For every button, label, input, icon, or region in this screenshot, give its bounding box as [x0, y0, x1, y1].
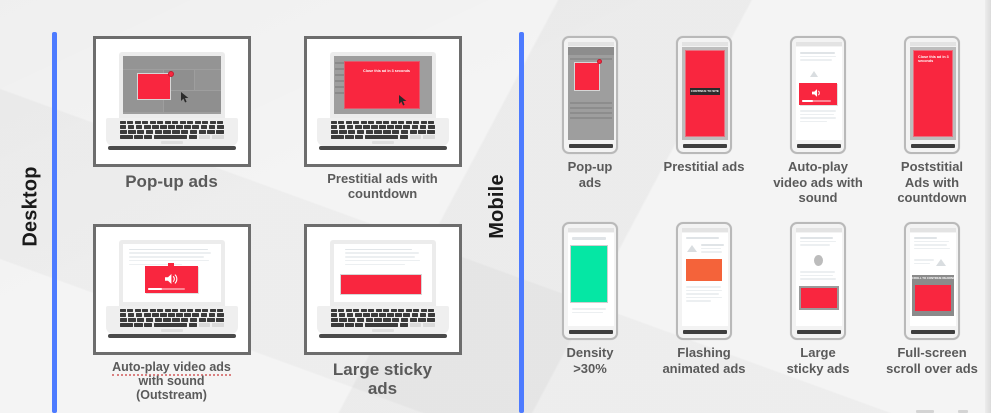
mobile-caption-poststitial-ads: Poststitial Ads with countdown	[897, 159, 966, 206]
phone-status-bar	[796, 42, 842, 46]
article-text-lines-top	[800, 237, 838, 248]
scroll-to-continue-banner: SCROLL TO CONTINUE READING	[912, 275, 954, 282]
article-text-lines-top	[914, 237, 952, 251]
laptop-foot	[319, 334, 447, 338]
desktop-grid: Pop-up ads	[72, 36, 482, 408]
article-text-lines-bottom	[686, 286, 724, 304]
popup-ad-overlay[interactable]	[137, 73, 171, 100]
phone-home-bar	[569, 144, 613, 148]
desktop-label-text: Desktop	[20, 166, 43, 246]
laptop-card-frame: Close this ad in 3 seconds	[304, 36, 462, 167]
flashing-animated-ad-overlay[interactable]	[686, 259, 722, 281]
article-text-lines-bottom	[800, 110, 838, 124]
mobile-caption-scroll-over-ads: Full-screen scroll over ads	[886, 345, 978, 376]
laptop-base	[317, 306, 449, 334]
video-nub	[168, 263, 174, 266]
laptop-trackpad	[372, 329, 394, 332]
laptop-trackpad	[161, 141, 183, 144]
video-ad-player[interactable]	[145, 266, 198, 293]
laptop-keyboard	[331, 309, 435, 327]
laptop-screen: Close this ad in 3 seconds	[334, 56, 432, 114]
mobile-caption-prestitial-ads: Prestitial ads	[664, 159, 745, 175]
mouse-cursor-icon	[399, 95, 408, 106]
phone-illustration	[790, 222, 846, 340]
laptop-card-frame	[304, 224, 462, 355]
desktop-card-popup-ads[interactable]: Pop-up ads	[72, 36, 271, 220]
popup-close-icon[interactable]	[597, 59, 602, 64]
article-text-lines-top	[572, 237, 610, 242]
desktop-caption-prestitial-ads: Prestitial ads with countdown	[327, 172, 438, 201]
phone-status-bar	[910, 42, 956, 46]
poststitial-countdown-text: Close this ad in 3 seconds	[918, 55, 950, 63]
phone-screen	[682, 233, 728, 326]
large-sticky-ad-overlay[interactable]	[799, 286, 839, 310]
phone-home-bar	[569, 330, 613, 334]
laptop-keyboard	[331, 121, 435, 139]
mobile-card-flashing-animated-ads[interactable]: Flashing animated ads	[650, 222, 758, 408]
page-wireframe-blocks	[568, 47, 614, 140]
mobile-caption-density: Density >30%	[567, 345, 614, 376]
phone-illustration	[790, 36, 846, 154]
article-text-lines-mid	[800, 271, 838, 282]
phone-screen	[568, 47, 614, 140]
desktop-card-prestitial-ads[interactable]: Close this ad in 3 seconds	[283, 36, 482, 220]
image-placeholder-icon	[936, 259, 946, 266]
slide-canvas: Desktop	[0, 0, 991, 413]
prestitial-ad-overlay[interactable]: Close this ad in 3 seconds	[344, 61, 420, 109]
continue-to-site-label: CONTINUE TO SITE	[691, 90, 719, 93]
phone-illustration	[676, 222, 732, 340]
video-progress-bar[interactable]	[148, 288, 185, 290]
phone-illustration: Close this ad in 3 seconds	[904, 36, 960, 154]
laptop-card-frame	[93, 36, 251, 167]
laptop-foot	[319, 146, 447, 150]
laptop-lid: Close this ad in 3 seconds	[330, 52, 436, 118]
large-sticky-ad-overlay[interactable]	[340, 274, 422, 295]
phone-status-bar	[682, 42, 728, 46]
phone-home-bar	[683, 144, 727, 148]
desktop-section: Desktop	[0, 0, 500, 413]
laptop-base	[106, 118, 238, 146]
poststitial-ad-overlay[interactable]: Close this ad in 3 seconds	[913, 50, 953, 137]
mobile-card-autoplay-video-ads[interactable]: Auto-play video ads with sound	[764, 36, 872, 222]
laptop-card-frame	[93, 224, 251, 355]
phone-screen: Close this ad in 3 seconds	[910, 47, 956, 140]
phone-home-bar	[911, 144, 955, 148]
phone-home-bar	[797, 330, 841, 334]
bottom-edge-artifact	[0, 409, 991, 413]
phone-screen: CONTINUE TO SITE	[682, 47, 728, 140]
high-density-ad-overlay[interactable]	[570, 245, 608, 303]
image-placeholder-icon	[810, 71, 818, 77]
image-placeholder-icon	[814, 255, 823, 266]
phone-status-bar	[910, 228, 956, 232]
article-headline-lines	[701, 244, 724, 255]
mobile-card-prestitial-ads[interactable]: CONTINUE TO SITE Prestitial ads	[650, 36, 758, 222]
popup-ad-overlay[interactable]	[574, 62, 600, 91]
laptop-lid	[119, 52, 225, 118]
speaker-sound-icon[interactable]	[165, 273, 179, 285]
desktop-card-large-sticky-ads[interactable]: Large sticky ads	[283, 224, 482, 408]
continue-to-site-button[interactable]: CONTINUE TO SITE	[690, 88, 720, 95]
mobile-card-large-sticky-ads[interactable]: Large sticky ads	[764, 222, 872, 408]
image-placeholder-icon	[687, 245, 697, 252]
mobile-caption-large-sticky-ads: Large sticky ads	[787, 345, 850, 376]
desktop-card-autoplay-video-ads[interactable]: Auto-play video ads with sound (Outstrea…	[72, 224, 271, 408]
laptop-foot	[108, 334, 236, 338]
laptop-illustration	[106, 50, 238, 154]
laptop-illustration	[317, 238, 449, 342]
laptop-screen	[334, 244, 432, 302]
phone-screen	[796, 233, 842, 326]
laptop-lid	[119, 240, 225, 306]
mobile-card-poststitial-ads[interactable]: Close this ad in 3 seconds Poststitial A…	[878, 36, 986, 222]
phone-home-bar	[797, 144, 841, 148]
article-text-lines-top	[800, 52, 838, 63]
desktop-caption-popup-ads: Pop-up ads	[125, 172, 218, 191]
phone-illustration: SCROLL TO CONTINUE READING	[904, 222, 960, 340]
laptop-screen	[123, 244, 221, 302]
phone-status-bar	[568, 228, 614, 232]
mobile-accent-rule	[519, 32, 524, 413]
mobile-card-density[interactable]: Density >30%	[536, 222, 644, 408]
laptop-base	[106, 306, 238, 334]
phone-illustration	[562, 36, 618, 154]
mobile-grid: Pop-up ads CONTINUE TO SITE	[536, 36, 986, 408]
speaker-sound-icon[interactable]	[812, 88, 823, 98]
phone-status-bar	[682, 228, 728, 232]
laptop-lid	[330, 240, 436, 306]
mobile-caption-popup-ads: Pop-up ads	[568, 159, 613, 190]
article-text-lines-bottom	[572, 308, 610, 315]
desktop-section-label: Desktop	[14, 0, 48, 413]
mobile-card-popup-ads[interactable]: Pop-up ads	[536, 36, 644, 222]
laptop-screen	[123, 56, 221, 114]
scroll-to-continue-label: SCROLL TO CONTINUE READING	[912, 277, 954, 280]
phone-screen: SCROLL TO CONTINUE READING	[910, 233, 956, 326]
mobile-caption-autoplay-video-ads: Auto-play video ads with sound	[773, 159, 863, 206]
mobile-card-scroll-over-ads[interactable]: SCROLL TO CONTINUE READING Full-screen s…	[878, 222, 986, 408]
popup-close-icon[interactable]	[168, 71, 174, 77]
phone-screen	[568, 233, 614, 326]
mouse-cursor-icon	[181, 92, 190, 103]
video-ad-player[interactable]	[799, 83, 837, 105]
prestitial-countdown-text: Close this ad in 3 seconds	[363, 69, 410, 73]
mobile-caption-flashing-animated-ads: Flashing animated ads	[662, 345, 745, 376]
article-text-lines-top	[686, 237, 724, 241]
laptop-foot	[108, 146, 236, 150]
laptop-trackpad	[161, 329, 183, 332]
scroll-over-ad-overlay[interactable]	[915, 285, 951, 311]
desktop-caption-large-sticky-ads: Large sticky ads	[333, 360, 432, 398]
article-text-lines	[340, 249, 426, 268]
mobile-section-label: Mobile	[480, 0, 514, 413]
desktop-caption-autoplay-video-ads: Auto-play video ads with sound (Outstrea…	[112, 360, 231, 402]
phone-illustration	[562, 222, 618, 340]
phone-home-bar	[911, 330, 955, 334]
phone-screen	[796, 47, 842, 140]
video-progress-bar[interactable]	[802, 100, 831, 102]
desktop-accent-rule	[52, 32, 57, 413]
article-text-lines-mid	[914, 259, 934, 266]
laptop-base	[317, 118, 449, 146]
mobile-section: Mobile	[480, 0, 991, 413]
laptop-illustration	[106, 238, 238, 342]
laptop-illustration: Close this ad in 3 seconds	[317, 50, 449, 154]
phone-home-bar	[683, 330, 727, 334]
phone-status-bar	[796, 228, 842, 232]
laptop-keyboard	[120, 309, 224, 327]
laptop-trackpad	[372, 141, 394, 144]
phone-illustration: CONTINUE TO SITE	[676, 36, 732, 154]
mobile-label-text: Mobile	[486, 174, 509, 239]
laptop-keyboard	[120, 121, 224, 139]
phone-status-bar	[568, 42, 614, 46]
